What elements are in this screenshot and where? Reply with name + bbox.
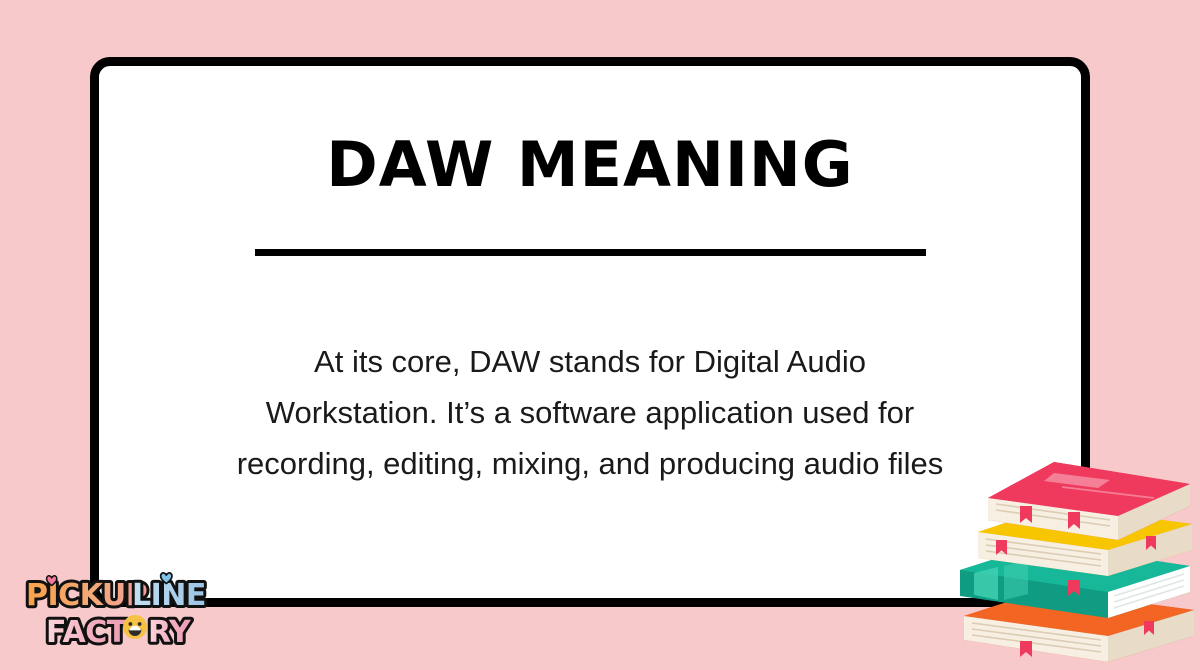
divider-bar <box>255 249 926 256</box>
pickupline-factory-logo: PICKUP PICKUP LINE LINE FACT FACT RY RY <box>20 560 240 652</box>
definition-paragraph: At its core, DAW stands for Digital Audi… <box>230 336 950 489</box>
logo-ry-text: RY <box>148 615 192 650</box>
grinning-face-emoji <box>123 615 147 639</box>
logo-pickup-text: PICKUP <box>26 578 147 613</box>
content-card: DAW MEANING At its core, DAW stands for … <box>90 57 1090 607</box>
title-underline-rule <box>99 249 1081 256</box>
stack-of-books <box>958 440 1200 670</box>
logo-line-text: LINE <box>132 578 206 613</box>
page-title: DAW MEANING <box>99 134 1081 196</box>
logo-fact-text: FACT <box>46 615 128 650</box>
logo-line-2: FACT FACT RY RY <box>46 615 192 650</box>
